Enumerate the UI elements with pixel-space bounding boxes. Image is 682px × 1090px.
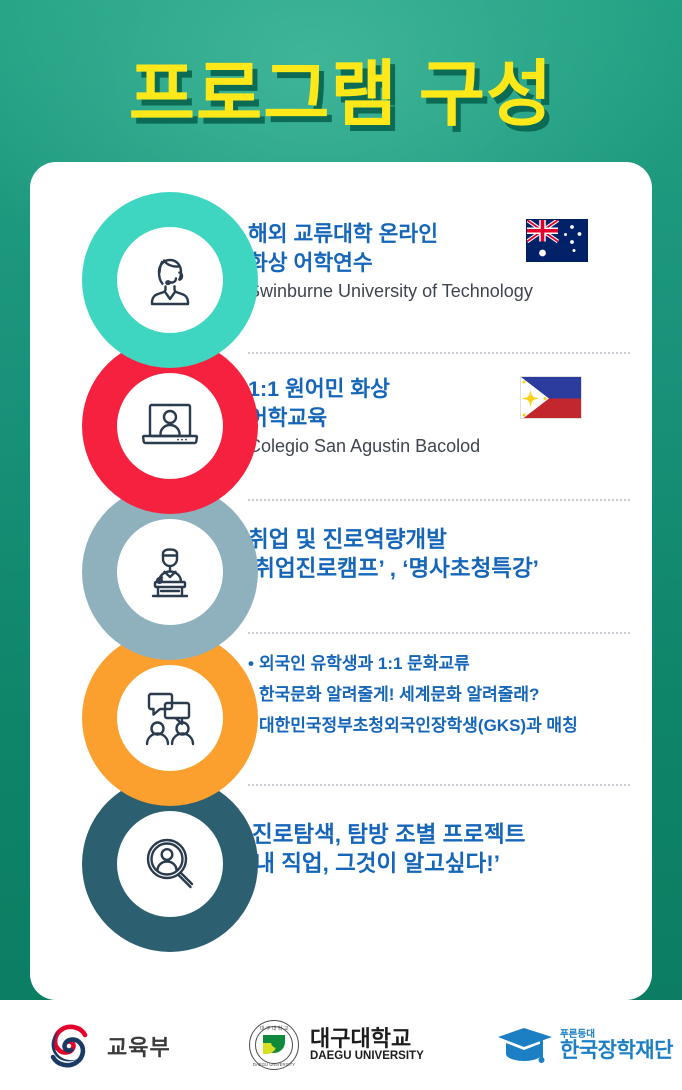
row-4-bullet-3: 대한민국정부초청외국인장학생(GKS)과 매칭 xyxy=(248,710,638,741)
logo-ministry-of-education: 교육부 xyxy=(45,1022,171,1070)
laptop-person-icon xyxy=(137,395,203,457)
headset-person-icon xyxy=(138,248,202,312)
ring-inner-3 xyxy=(117,519,223,625)
row-3-heading-line-1: 취업 및 진로역량개발 xyxy=(248,525,638,554)
daegu-label-en: DAEGU UNIVERSITY xyxy=(310,1050,424,1063)
moe-label: 교육부 xyxy=(107,1030,171,1062)
graduation-cap-icon xyxy=(498,1022,554,1068)
philippines-flag xyxy=(520,376,582,419)
poster-root: 프로그램 구성 xyxy=(0,0,682,1090)
people-speech-bubbles-icon xyxy=(138,686,202,750)
australia-flag-icon xyxy=(527,220,588,262)
text-column: 해외 교류대학 온라인 화상 어학연수 Swinburne University… xyxy=(248,192,638,972)
row-2-subtitle: Colegio San Agustin Bacolod xyxy=(248,434,638,459)
ring-inner-2 xyxy=(117,373,223,479)
ring-inner-1 xyxy=(117,227,223,333)
divider-2 xyxy=(248,499,630,501)
logo-daegu-university: 대 구 대 학 교 DAEGU UNIVERSITY 대구대학교 DAEGU U… xyxy=(248,1019,424,1071)
australia-flag xyxy=(526,219,588,262)
title-area: 프로그램 구성 xyxy=(0,40,682,150)
ring-column xyxy=(47,192,247,972)
row-4-bullet-1: 외국인 유학생과 1:1 문화교류 xyxy=(248,648,638,679)
page-title: 프로그램 구성 xyxy=(129,59,553,131)
row-5-text: 진로탐색, 탐방 조별 프로젝트 ‘내 직업, 그것이 알고싶다!’ xyxy=(248,820,638,878)
logo-kosaf: 푸른등대 한국장학재단 xyxy=(498,1022,673,1068)
row-4-bullet-2: 한국문화 알려줄게! 세계문화 알려줄래? xyxy=(248,679,638,710)
content-card: 해외 교류대학 온라인 화상 어학연수 Swinburne University… xyxy=(30,162,652,1000)
row-3-heading-line-2: ‘취업진로캠프’ , ‘명사초청특강’ xyxy=(248,554,638,583)
svg-text:DAEGU UNIVERSITY: DAEGU UNIVERSITY xyxy=(253,1062,295,1067)
daegu-seal-icon: 대 구 대 학 교 DAEGU UNIVERSITY xyxy=(248,1019,300,1071)
divider-4 xyxy=(248,784,630,786)
divider-1 xyxy=(248,352,630,354)
ring-row-1 xyxy=(82,192,258,368)
row-3-text: 취업 및 진로역량개발 ‘취업진로캠프’ , ‘명사초청특강’ xyxy=(248,525,638,583)
row-4-text: 외국인 유학생과 1:1 문화교류 한국문화 알려줄게! 세계문화 알려줄래? … xyxy=(248,648,638,741)
row-1-subtitle: Swinburne University of Technology xyxy=(248,279,638,304)
ring-inner-4 xyxy=(117,665,223,771)
row-5-heading-line-1: 진로탐색, 탐방 조별 프로젝트 xyxy=(248,820,638,849)
taegeuk-icon xyxy=(45,1022,93,1070)
footer-logos: 교육부 대 구 대 학 교 DAEGU UNIVERSITY 대구대학교 DAE… xyxy=(0,1000,682,1090)
magnifier-person-icon xyxy=(138,832,202,896)
svg-text:대 구 대 학 교: 대 구 대 학 교 xyxy=(260,1025,289,1032)
daegu-label-ko: 대구대학교 xyxy=(310,1027,424,1050)
divider-3 xyxy=(248,632,630,634)
lecturer-podium-icon xyxy=(139,541,201,603)
ring-inner-5 xyxy=(117,811,223,917)
kosaf-label-small: 푸른등대 xyxy=(560,1029,673,1040)
kosaf-label-ko: 한국장학재단 xyxy=(560,1040,673,1062)
row-5-heading-line-2: ‘내 직업, 그것이 알고싶다!’ xyxy=(248,849,638,878)
philippines-flag-icon xyxy=(521,377,582,419)
